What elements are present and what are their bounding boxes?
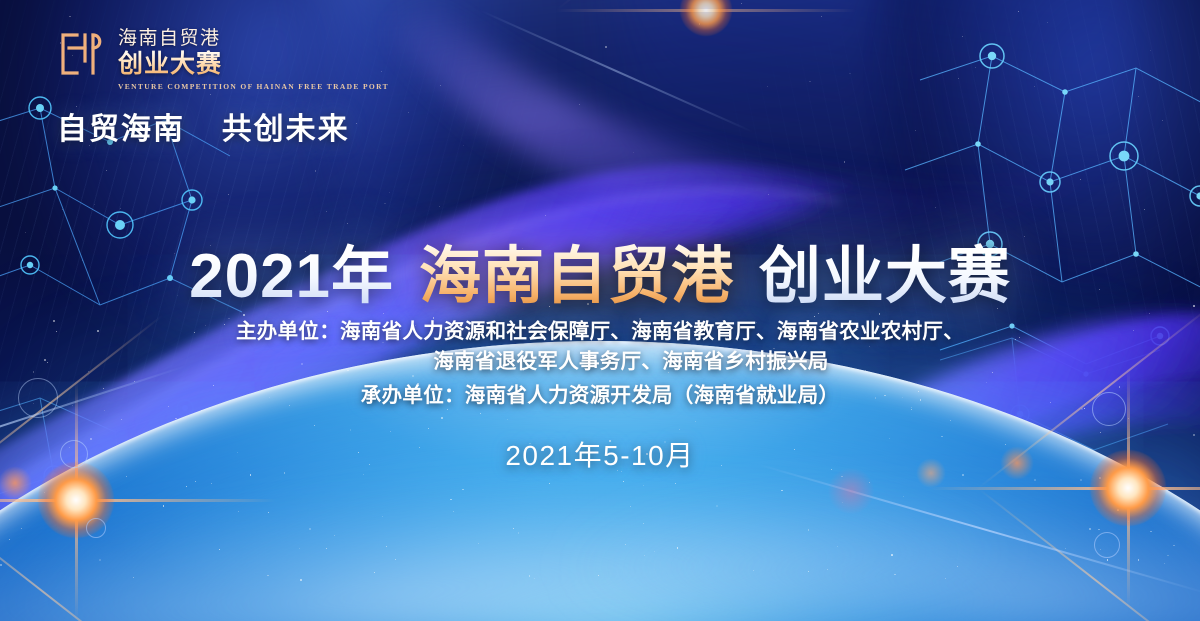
host-line-1: 主办单位：海南省人力资源和社会保障厅、海南省教育厅、海南省农业农村厅、 xyxy=(0,317,1200,347)
executor-label: 承办单位： xyxy=(361,384,465,407)
title-year: 2021年 xyxy=(189,242,394,311)
host-label: 主办单位： xyxy=(236,320,340,343)
title-event: 创业大赛 xyxy=(759,242,1011,311)
event-logo: 海南自贸港 创业大赛 VENTURE COMPETITION OF HAINAN… xyxy=(55,28,389,91)
logo-line-2: 创业大赛 xyxy=(118,50,389,79)
host-line-2: 海南省退役军人事务厅、海南省乡村振兴局 xyxy=(0,347,1200,377)
poster-canvas: 海南自贸港 创业大赛 VENTURE COMPETITION OF HAINAN… xyxy=(0,0,1200,621)
slogan-part-1: 自贸海南 xyxy=(57,113,185,146)
host-value-1: 海南省人力资源和社会保障厅、海南省教育厅、海南省农业农村厅、 xyxy=(340,320,964,343)
main-title: 2021年 海南自贸港 创业大赛 xyxy=(0,225,1200,315)
hainan-venture-logo-mark-icon xyxy=(55,28,107,80)
slogan-part-2: 共创未来 xyxy=(222,113,350,146)
logo-english-subtitle: VENTURE COMPETITION OF HAINAN FREE TRADE… xyxy=(118,82,389,91)
executor-line: 承办单位：海南省人力资源开发局（海南省就业局） xyxy=(0,381,1200,411)
slogan: 自贸海南 共创未来 xyxy=(57,104,350,148)
title-place: 海南自贸港 xyxy=(419,242,734,311)
event-date: 2021年5-10月 xyxy=(0,434,1200,474)
organizer-block: 主办单位：海南省人力资源和社会保障厅、海南省教育厅、海南省农业农村厅、 海南省退… xyxy=(0,317,1200,411)
executor-value: 海南省人力资源开发局（海南省就业局） xyxy=(465,384,839,407)
logo-line-1: 海南自贸港 xyxy=(118,28,389,50)
